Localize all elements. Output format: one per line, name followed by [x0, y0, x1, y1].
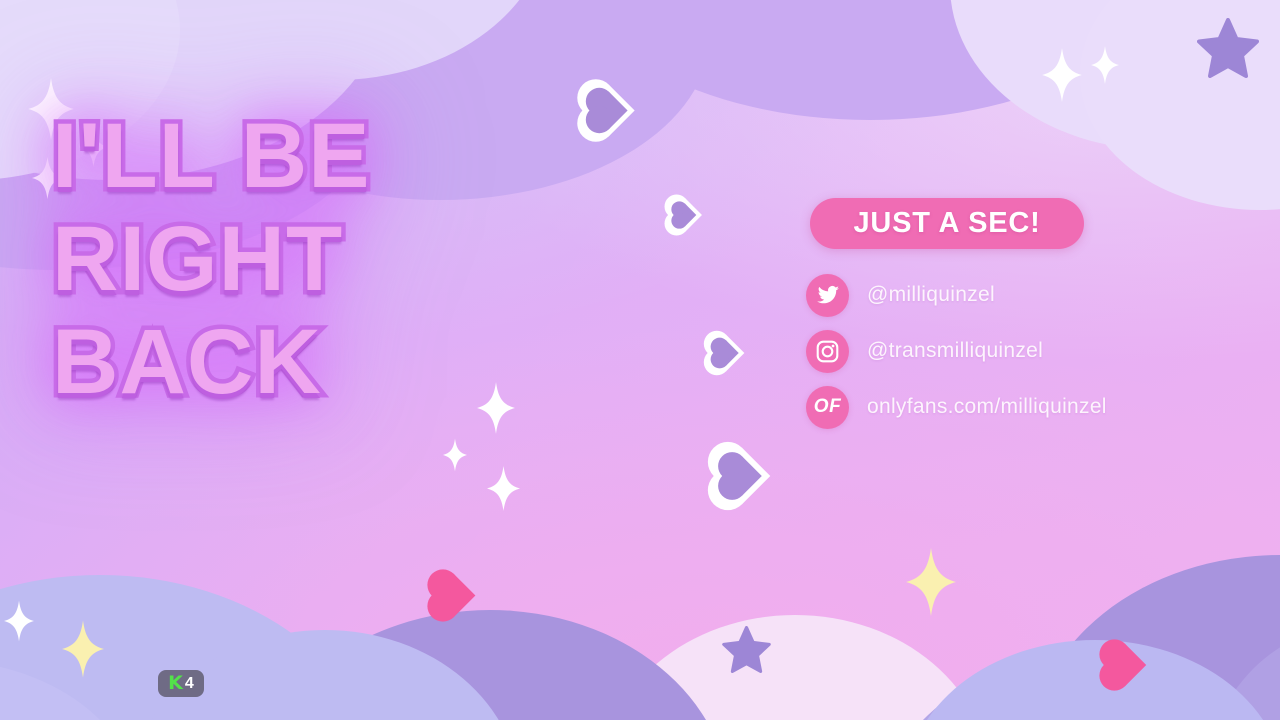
kick-follower-badge[interactable]: K 4: [158, 670, 204, 697]
status-badge: JUST A SEC!: [810, 198, 1084, 249]
kick-icon: K: [168, 674, 183, 693]
star-icon: [1197, 18, 1259, 78]
instagram-icon[interactable]: [806, 330, 849, 373]
headline-line-1: I'LL BE: [52, 112, 522, 201]
page-title: I'LL BE RIGHT BACK: [52, 112, 522, 408]
onlyfans-icon-label: OF: [814, 396, 841, 418]
headline-line-2: RIGHT: [52, 215, 522, 304]
kick-badge-count: 4: [185, 676, 194, 692]
sparkle-icon: [4, 600, 34, 642]
status-badge-label: JUST A SEC!: [853, 207, 1040, 240]
social-row-instagram[interactable]: @transmilliquinzel: [806, 329, 1107, 373]
social-links-list: @milliquinzel @transmilliquinzel OF only…: [806, 273, 1107, 441]
sparkle-icon: [62, 620, 104, 678]
social-handle-instagram: @transmilliquinzel: [867, 339, 1043, 363]
sparkle-icon: [487, 466, 520, 511]
sparkle-icon: [1091, 45, 1119, 85]
stream-overlay-canvas: I'LL BE RIGHT BACK JUST A SEC! @milliqui…: [0, 0, 1280, 720]
social-handle-twitter: @milliquinzel: [867, 283, 995, 307]
social-row-onlyfans[interactable]: OF onlyfans.com/milliquinzel: [806, 385, 1107, 429]
social-handle-onlyfans: onlyfans.com/milliquinzel: [867, 395, 1107, 419]
twitter-icon[interactable]: [806, 274, 849, 317]
sparkle-icon: [443, 438, 467, 472]
sparkle-icon: [1042, 48, 1082, 102]
headline-line-3: BACK: [52, 318, 522, 407]
social-row-twitter[interactable]: @milliquinzel: [806, 273, 1107, 317]
star-icon: [722, 626, 771, 673]
sparkle-icon: [906, 548, 956, 616]
onlyfans-icon[interactable]: OF: [806, 386, 849, 429]
